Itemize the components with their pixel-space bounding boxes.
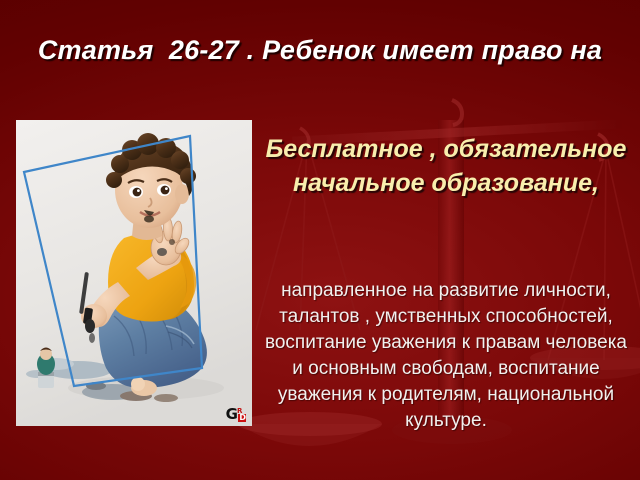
- slide-canvas: Статья 26-27 . Ребенок имеет право на: [0, 0, 640, 480]
- illustration-photo: GRD: [16, 120, 252, 426]
- logo-letter: G: [226, 405, 237, 423]
- slide-body-text: направленное на развитие личности, талан…: [258, 278, 634, 434]
- logo-box: D: [238, 414, 246, 422]
- slide-subtitle: Бесплатное , обязательное начальное обра…: [258, 132, 634, 200]
- photo-watermark-logo: GRD: [226, 407, 246, 422]
- slide-title: Статья 26-27 . Ребенок имеет право на: [24, 32, 616, 68]
- child-painting-photo: [16, 120, 252, 426]
